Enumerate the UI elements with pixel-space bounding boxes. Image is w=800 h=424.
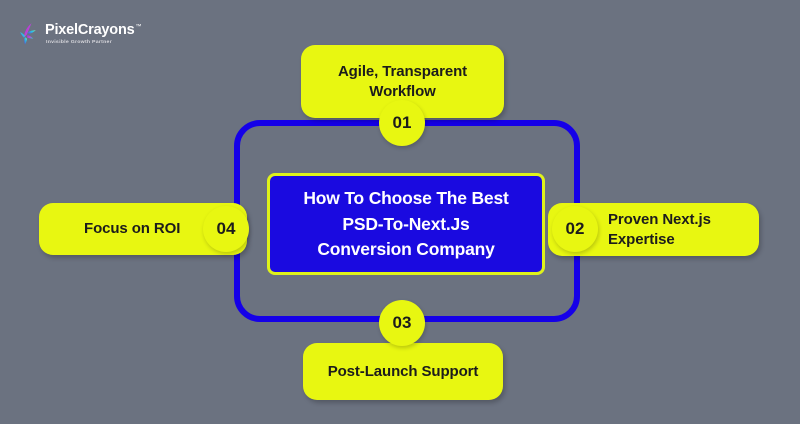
step-label-01: Agile, Transparent Workflow — [315, 62, 490, 100]
step-card-03[interactable]: Post-Launch Support — [303, 343, 503, 400]
step-label-04: Focus on ROI — [84, 219, 180, 238]
hummingbird-icon — [18, 22, 40, 46]
infographic-canvas: PixelCrayons ™ Invisible Growth Partner … — [0, 0, 800, 424]
center-title-line-3: Conversion Company — [317, 237, 494, 262]
brand-tagline: Invisible Growth Partner — [46, 40, 141, 45]
step-label-02: Proven Next.js Expertise — [608, 210, 759, 248]
step-badge-01[interactable]: 01 — [379, 100, 425, 146]
center-title-line-2: PSD-To-Next.Js — [342, 212, 469, 237]
step-badge-03[interactable]: 03 — [379, 300, 425, 346]
center-title-line-1: How To Choose The Best — [303, 186, 508, 211]
brand-name: PixelCrayons — [45, 23, 134, 38]
trademark-symbol: ™ — [135, 24, 141, 30]
step-badge-04[interactable]: 04 — [203, 206, 249, 252]
step-label-03: Post-Launch Support — [328, 362, 479, 381]
center-title-box: How To Choose The Best PSD-To-Next.Js Co… — [267, 173, 545, 275]
brand-logo: PixelCrayons ™ Invisible Growth Partner — [18, 22, 141, 46]
step-badge-02[interactable]: 02 — [552, 206, 598, 252]
